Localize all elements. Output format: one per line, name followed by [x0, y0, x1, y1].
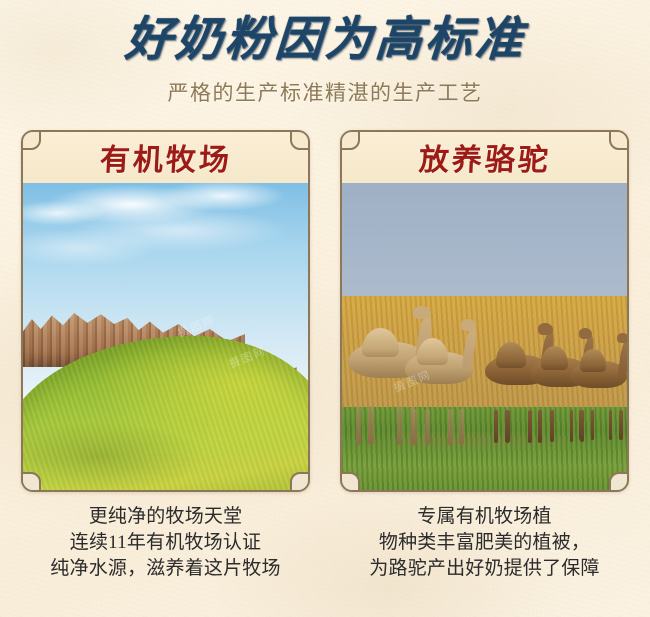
caption-row: 更纯净的牧场天堂 连续11年有机牧场认证 纯净水源，滋养着这片牧场 专属有机牧场… [0, 504, 650, 583]
caption-free-range-camels: 专属有机牧场植 物种类丰富肥美的植被， 为路驼产出好奶提供了保障 [340, 504, 629, 583]
camel-leg [528, 410, 532, 444]
card-column-free-range-camels: 放养骆驼 [340, 130, 629, 492]
camel-leg [619, 410, 623, 440]
camels-photo-image [342, 183, 627, 490]
camel-leg [591, 410, 595, 440]
camel-leg [448, 409, 452, 445]
caption-line: 更纯净的牧场天堂 [21, 504, 310, 530]
camel-figure [405, 352, 473, 413]
camel-leg [570, 410, 574, 442]
camel-leg [459, 409, 463, 445]
page-title: 好奶粉因为高标准 [0, 14, 650, 67]
green-grass-field [342, 407, 627, 490]
camel-head [413, 306, 431, 320]
card-column-organic-pasture: 有机牧场 摄图网 摄图网 [21, 130, 310, 492]
caption-line: 为路驼产出好奶提供了保障 [340, 556, 629, 582]
caption-line: 连续11年有机牧场认证 [21, 530, 310, 556]
card-photo-organic-pasture: 摄图网 摄图网 [23, 183, 308, 490]
card-free-range-camels[interactable]: 放养骆驼 [340, 130, 629, 492]
pasture-photo-image [23, 183, 308, 490]
card-header-organic-pasture: 有机牧场 [23, 132, 308, 183]
camel-leg [413, 409, 417, 445]
caption-line: 纯净水源，滋养着这片牧场 [21, 556, 310, 582]
card-title-free-range-camels: 放养骆驼 [417, 135, 551, 179]
card-photo-free-range-camels: 摄图网 [342, 183, 627, 490]
promo-page: 好奶粉因为高标准 严格的生产标准精湛的生产工艺 有机牧场 [0, 0, 650, 617]
card-header-free-range-camels: 放养骆驼 [342, 132, 627, 183]
page-subtitle: 严格的生产标准精湛的生产工艺 [0, 81, 650, 106]
caption-organic-pasture: 更纯净的牧场天堂 连续11年有机牧场认证 纯净水源，滋养着这片牧场 [21, 504, 310, 583]
camel-leg [494, 410, 498, 444]
camel-figure [570, 361, 627, 413]
camel-head [579, 328, 592, 339]
card-title-organic-pasture: 有机牧场 [98, 135, 232, 179]
camel-leg [356, 406, 361, 445]
camel-leg [397, 406, 402, 445]
camel-leg [538, 410, 542, 442]
card-row: 有机牧场 摄图网 摄图网 [0, 130, 650, 492]
camel-leg [609, 410, 613, 440]
camel-leg [368, 406, 373, 445]
caption-line: 专属有机牧场植 [340, 504, 629, 530]
card-organic-pasture[interactable]: 有机牧场 摄图网 摄图网 [21, 130, 310, 492]
camel-leg [425, 409, 429, 445]
caption-line: 物种类丰富肥美的植被， [340, 530, 629, 556]
camel-leg [579, 410, 583, 440]
page-header: 好奶粉因为高标准 严格的生产标准精湛的生产工艺 [0, 0, 650, 106]
camel-head [538, 323, 552, 335]
camel-leg [550, 410, 554, 442]
camel-leg [505, 410, 509, 444]
camel-head [461, 319, 476, 331]
camel-head [617, 333, 627, 343]
